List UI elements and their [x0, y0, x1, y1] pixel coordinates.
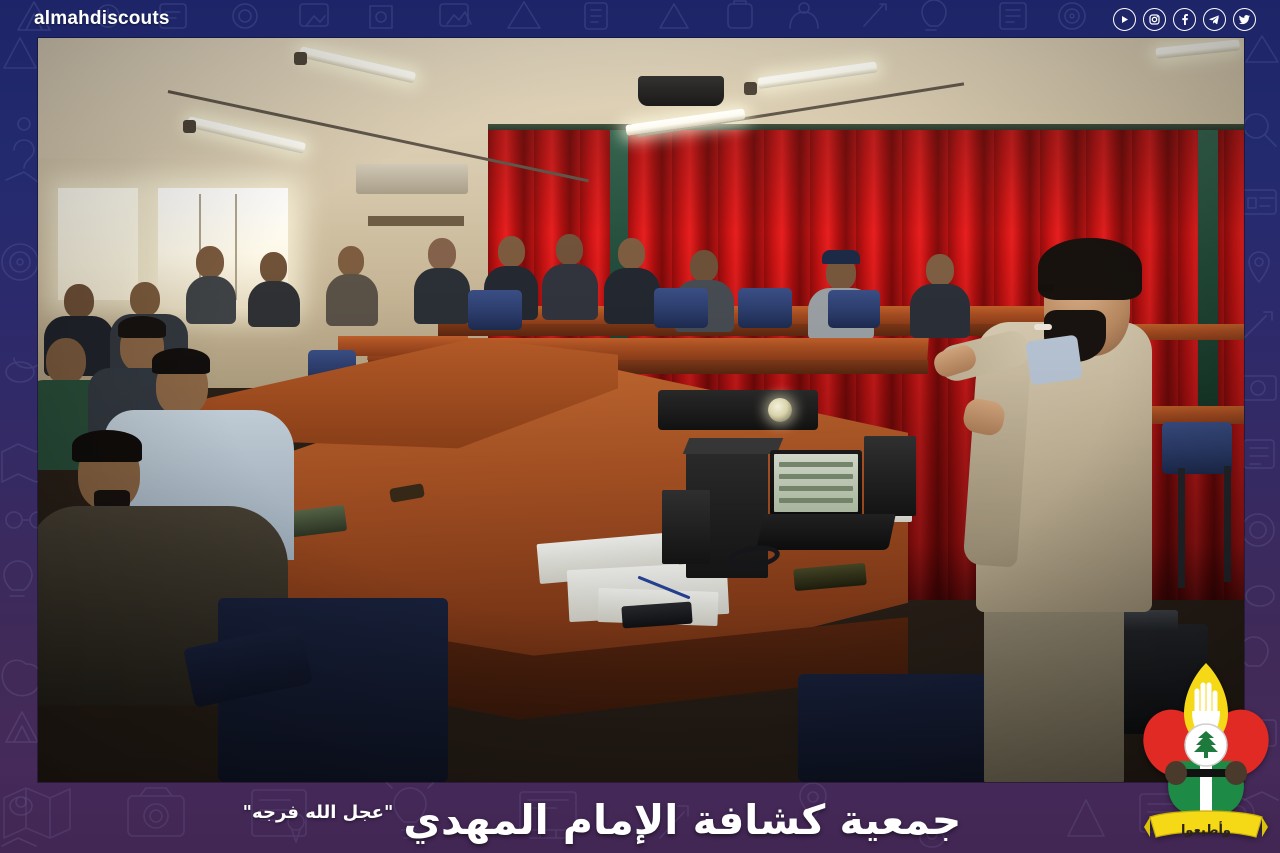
- attendee-head: [46, 338, 86, 384]
- organization-name: جمعية كشافة الإمام المهدي: [403, 796, 961, 844]
- chair: [828, 290, 880, 328]
- attendee-body: [542, 264, 598, 320]
- attendee-body: [910, 284, 970, 338]
- light-fitting-1: [294, 52, 307, 65]
- imam-mahdi-scouts-emblem: وأطيعوا: [1140, 649, 1272, 845]
- curtain-right-post: [1198, 130, 1218, 430]
- social-links: [1113, 8, 1256, 31]
- attendee-head: [498, 236, 525, 267]
- attendee-head: [428, 238, 456, 270]
- telegram-icon[interactable]: [1203, 8, 1226, 31]
- chair: [738, 288, 792, 328]
- light-fitting-3: [744, 82, 757, 95]
- laptop-screen: [770, 450, 862, 516]
- attendee-head: [196, 246, 224, 278]
- air-conditioner: [356, 164, 468, 194]
- presenter-collar: [1025, 335, 1083, 386]
- attendee-body: [414, 268, 470, 324]
- baseball-cap: [822, 250, 860, 264]
- youtube-icon[interactable]: [1113, 8, 1136, 31]
- projector-lens: [768, 398, 792, 422]
- attendee-head: [556, 234, 583, 265]
- light-fitting-2: [183, 120, 196, 133]
- instagram-icon[interactable]: [1143, 8, 1166, 31]
- twitter-icon[interactable]: [1233, 8, 1256, 31]
- attendee-head: [926, 254, 954, 286]
- attendee-head: [64, 284, 94, 318]
- laptop-keyboard: [756, 514, 896, 550]
- laptop-display: [774, 454, 858, 512]
- attendee-hair: [152, 348, 210, 374]
- presenter-eyebrow: [1038, 284, 1054, 292]
- wall-shelf: [368, 216, 464, 226]
- pc-tower-top: [683, 438, 783, 454]
- caption-band: جمعية كشافة الإمام المهدي "عجل الله فرجه…: [0, 782, 1280, 853]
- projector: [658, 390, 818, 430]
- ceiling-projector-mount: [638, 76, 724, 106]
- chair: [654, 288, 708, 328]
- top-bar: almahdiscouts: [0, 0, 1280, 38]
- presenter-mouth: [1034, 324, 1052, 330]
- attendee-body: [326, 274, 378, 326]
- window-left: [58, 188, 138, 300]
- attendee-head: [338, 246, 364, 276]
- speaker-right: [864, 436, 916, 516]
- classroom-lecture-photo: [38, 38, 1244, 782]
- account-handle: almahdiscouts: [34, 8, 170, 30]
- chair-leg: [1224, 466, 1231, 582]
- attendee-head: [618, 238, 645, 269]
- attendee-head: [690, 250, 718, 282]
- chair: [468, 290, 522, 330]
- speaker-left: [662, 490, 710, 564]
- attendee-body: [604, 268, 660, 324]
- chair-leg: [1178, 468, 1185, 588]
- attendee-hair: [72, 430, 142, 462]
- presenter-hair: [1038, 238, 1142, 300]
- attendee-body: [248, 281, 300, 327]
- attendee-hair: [118, 316, 166, 338]
- organization-name-suffix: "عجل الله فرجه": [243, 802, 394, 823]
- attendee-head: [260, 252, 287, 283]
- attendee-head: [130, 282, 160, 316]
- attendee-body: [186, 276, 236, 324]
- facebook-icon[interactable]: [1173, 8, 1196, 31]
- chair: [1162, 422, 1232, 474]
- social-media-card: almahdiscouts: [0, 0, 1280, 853]
